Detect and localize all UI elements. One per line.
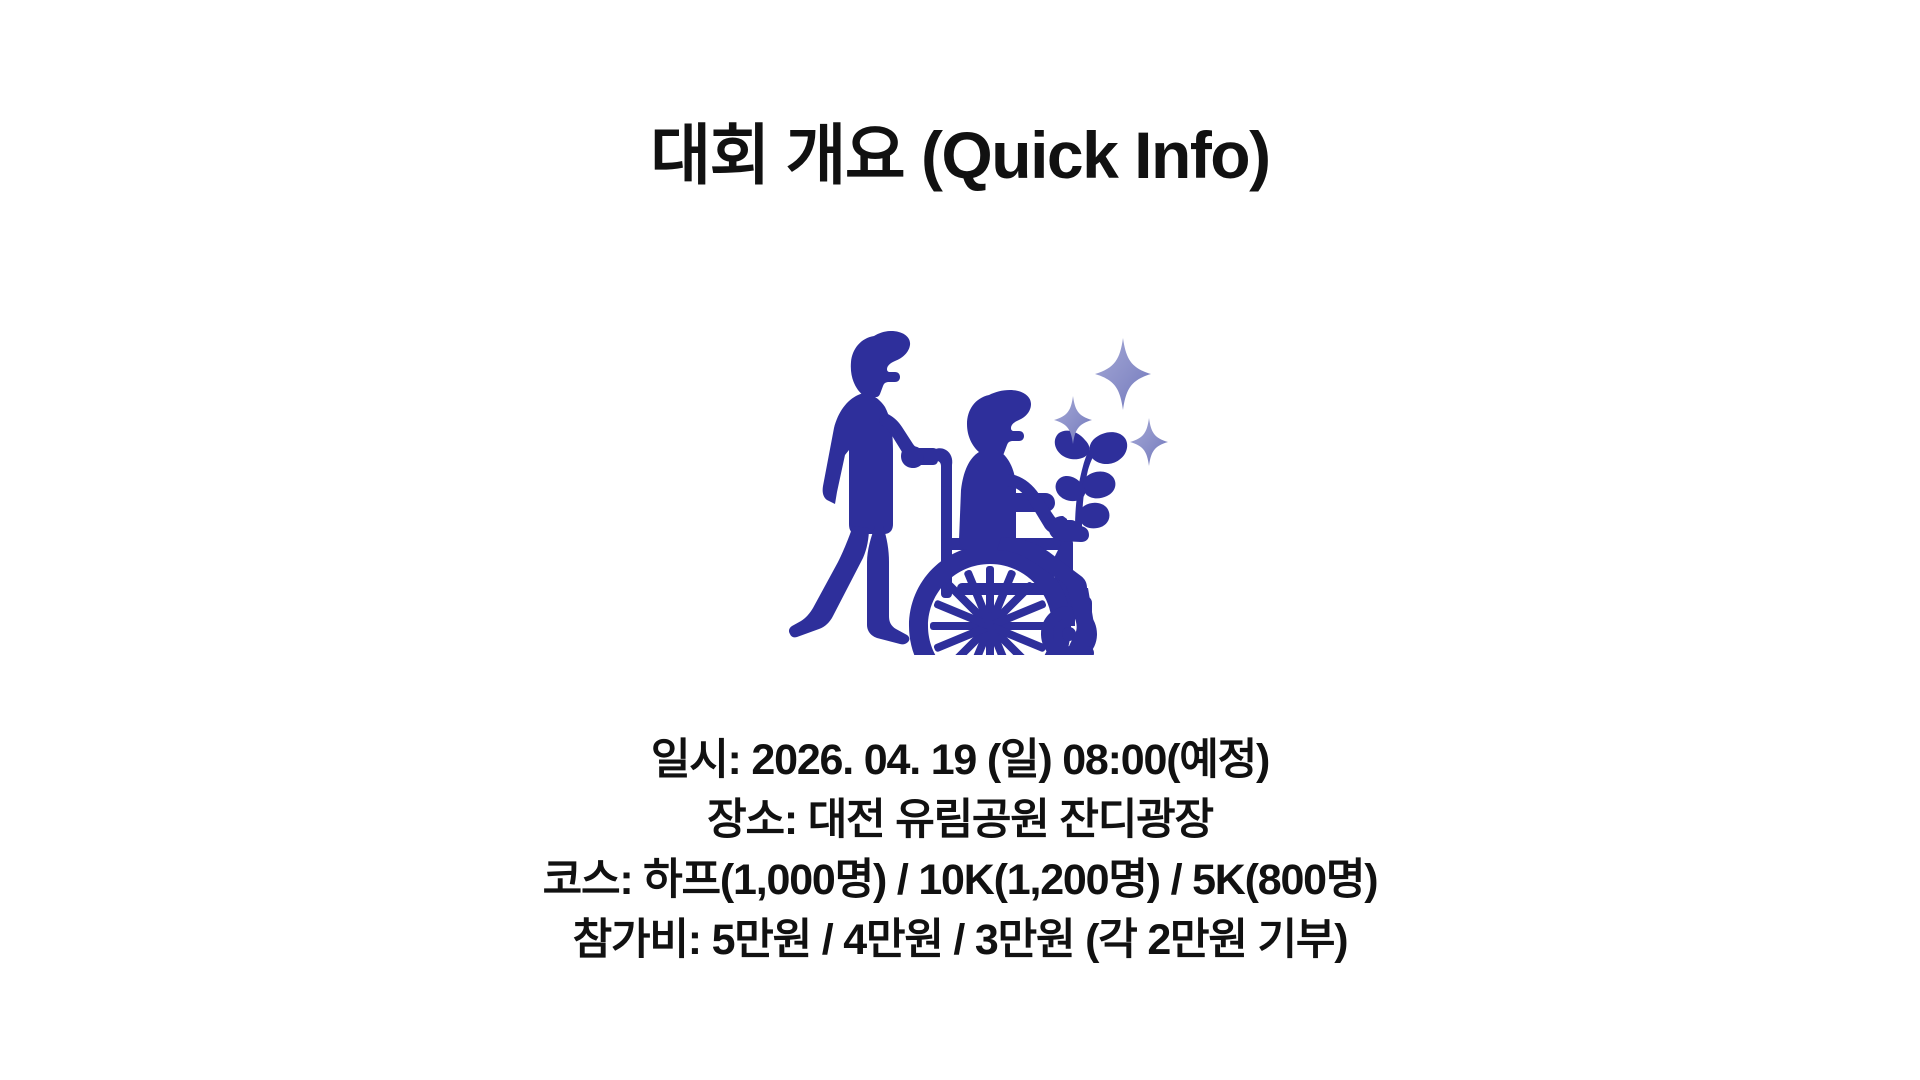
sprout-plant xyxy=(1055,431,1127,529)
info-line-fee: 참가비: 5만원 / 4만원 / 3만원 (각 2만원 기부) xyxy=(0,910,1920,970)
sparkle-large xyxy=(1095,338,1151,410)
quick-info-slide: 대회 개요 (Quick Info) xyxy=(0,0,1920,1080)
sparkle-small xyxy=(1130,418,1168,466)
caregiver-wheelchair-illustration xyxy=(745,300,1175,655)
quick-info-list: 일시: 2026. 04. 19 (일) 08:00(예정) 장소: 대전 유림… xyxy=(0,730,1920,970)
page-title: 대회 개요 (Quick Info) xyxy=(0,118,1920,194)
info-line-date: 일시: 2026. 04. 19 (일) 08:00(예정) xyxy=(0,730,1920,790)
info-line-course: 코스: 하프(1,000명) / 10K(1,200명) / 5K(800명) xyxy=(0,850,1920,910)
info-line-venue: 장소: 대전 유림공원 잔디광장 xyxy=(0,790,1920,850)
